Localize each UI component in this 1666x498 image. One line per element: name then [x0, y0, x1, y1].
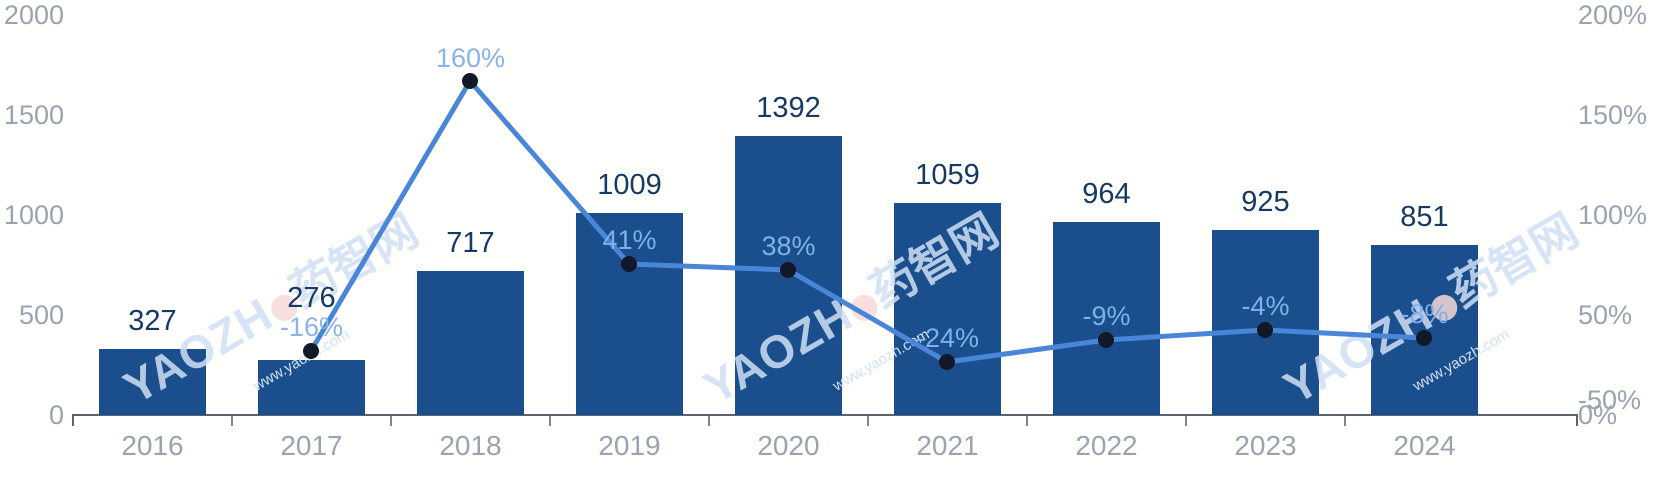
- x-axis-label-2017: 2017: [241, 430, 382, 462]
- bar-value-2024: 851: [1354, 201, 1495, 234]
- right-axis-tick-200pct: 200%: [1578, 0, 1666, 31]
- bar-2023[interactable]: [1212, 230, 1319, 415]
- bar-2021[interactable]: [894, 203, 1001, 415]
- growth-label-2018: 160%: [400, 43, 541, 74]
- chart-canvas: 2000 1500 1000 500 0 200% 150% 100% 50% …: [0, 0, 1666, 498]
- right-axis-tick-150pct: 150%: [1578, 100, 1666, 131]
- bar-2018[interactable]: [417, 271, 524, 415]
- x-axis-left-cap: [72, 414, 74, 426]
- x-axis-label-2023: 2023: [1195, 430, 1336, 462]
- growth-label-2017: -16%: [241, 312, 382, 343]
- x-axis-label-2020: 2020: [718, 430, 859, 462]
- left-axis-tick-0: 0: [0, 400, 64, 431]
- x-axis-tick-4: [867, 416, 869, 426]
- x-axis-tick-5: [1026, 416, 1028, 426]
- bar-value-2019: 1009: [559, 169, 700, 202]
- x-axis-label-2016: 2016: [82, 430, 223, 462]
- right-axis-tick-50pct: 50%: [1578, 300, 1666, 331]
- x-axis-tick-1: [390, 416, 392, 426]
- growth-label-2023: -4%: [1195, 291, 1336, 322]
- bar-value-2020: 1392: [718, 92, 859, 125]
- line-marker-2018[interactable]: [462, 73, 478, 89]
- growth-label-2022: -9%: [1036, 301, 1177, 332]
- growth-label-2024: -8%: [1354, 299, 1495, 330]
- line-marker-2017[interactable]: [303, 343, 319, 359]
- x-axis-label-2022: 2022: [1036, 430, 1177, 462]
- x-axis-right-cap: [1576, 414, 1578, 426]
- bar-value-2023: 925: [1195, 186, 1336, 219]
- x-axis-label-2021: 2021: [877, 430, 1018, 462]
- bar-2017[interactable]: [258, 360, 365, 415]
- watermark-dot: [846, 290, 882, 326]
- growth-label-2021: -24%: [877, 323, 1018, 354]
- right-axis-tick-100pct: 100%: [1578, 200, 1666, 231]
- x-axis-tick-2: [549, 416, 551, 426]
- bar-2016[interactable]: [99, 349, 206, 415]
- x-axis-tick-7: [1344, 416, 1346, 426]
- bar-value-2018: 717: [400, 227, 541, 260]
- growth-label-2019: 41%: [559, 225, 700, 256]
- bar-2024[interactable]: [1371, 245, 1478, 415]
- bar-value-2022: 964: [1036, 178, 1177, 211]
- bar-value-2017: 276: [241, 282, 382, 315]
- left-axis-tick-1000: 1000: [0, 200, 64, 231]
- x-axis-tick-6: [1185, 416, 1187, 426]
- left-axis-tick-500: 500: [0, 300, 64, 331]
- x-axis-tick-0: [231, 416, 233, 426]
- bar-value-2016: 327: [82, 305, 223, 338]
- x-axis-label-2024: 2024: [1354, 430, 1495, 462]
- growth-label-2020: 38%: [718, 231, 859, 262]
- bar-value-2021: 1059: [877, 159, 1018, 192]
- x-axis-tick-3: [708, 416, 710, 426]
- left-axis-tick-1500: 1500: [0, 100, 64, 131]
- bar-2020[interactable]: [735, 136, 842, 415]
- right-axis-tick-neg50pct: -50%: [1578, 385, 1666, 416]
- left-axis-tick-2000: 2000: [0, 0, 64, 31]
- x-axis-label-2019: 2019: [559, 430, 700, 462]
- x-axis-label-2018: 2018: [400, 430, 541, 462]
